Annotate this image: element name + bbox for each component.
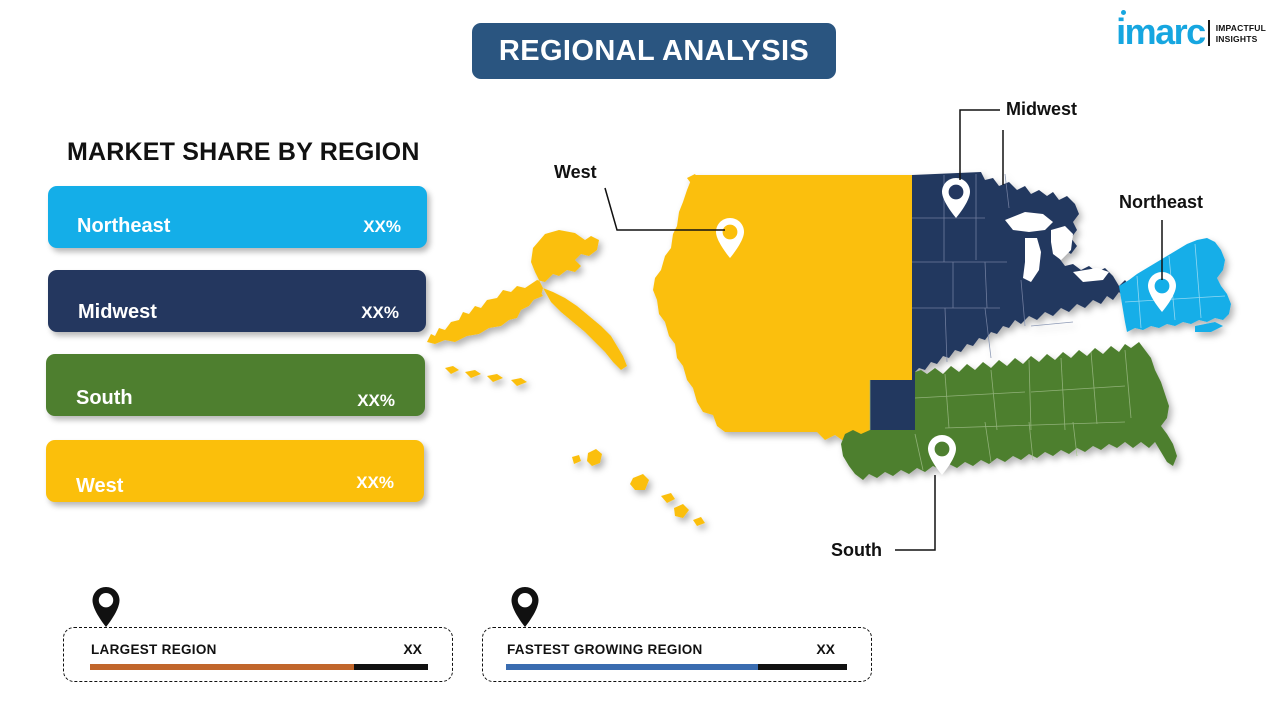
logo-tagline: IMPACTFUL INSIGHTS [1216, 23, 1266, 45]
page-title: REGIONAL ANALYSIS [499, 35, 809, 68]
share-bar-northeast[interactable]: Northeast XX% [48, 186, 427, 248]
slide-canvas: REGIONAL ANALYSIS imarc IMPACTFUL INSIGH… [0, 0, 1280, 720]
fastest-region-value: XX [816, 641, 835, 657]
fastest-region-box: FASTEST GROWING REGION XX [482, 627, 872, 682]
share-bar-label: West [76, 475, 123, 498]
callout-label-west: West [554, 162, 597, 183]
map-region-hawaii-6 [693, 517, 705, 526]
share-bar-value: XX% [361, 303, 399, 323]
fastest-region-progress-fill [506, 664, 758, 670]
share-bar-value: XX% [357, 391, 395, 411]
share-bar-value: XX% [363, 217, 401, 237]
share-bar-south[interactable]: South XX% [46, 354, 425, 416]
map-region-aleutians [445, 366, 527, 386]
fastest-region-progress-track [506, 664, 847, 670]
callout-label-northeast: Northeast [1119, 192, 1203, 213]
logo-tagline-line2: INSIGHTS [1216, 34, 1258, 44]
map-lake-huron [1051, 226, 1073, 260]
largest-region-label: LARGEST REGION [91, 642, 217, 657]
map-region-alaska-panhandle [543, 288, 627, 370]
market-share-heading: MARKET SHARE BY REGION [67, 138, 420, 167]
share-bar-label: Midwest [78, 301, 157, 324]
largest-region-value: XX [403, 641, 422, 657]
largest-region-box: LARGEST REGION XX [63, 627, 453, 682]
map-region-hawaii-4 [661, 493, 675, 503]
map-region-hawaii-5 [674, 504, 689, 518]
share-bar-value: XX% [356, 473, 394, 493]
fastest-region-label: FASTEST GROWING REGION [507, 642, 703, 657]
share-bar-midwest[interactable]: Midwest XX% [48, 270, 426, 332]
imarc-logo: imarc IMPACTFUL INSIGHTS [1116, 16, 1266, 49]
largest-region-progress-fill [90, 664, 354, 670]
map-region-northeast-long-island [1195, 322, 1223, 332]
callout-label-midwest: Midwest [1006, 99, 1077, 120]
share-bar-label: Northeast [77, 215, 170, 238]
map-pin-south [928, 435, 956, 475]
callout-label-south: South [831, 540, 882, 561]
largest-region-progress-track [90, 664, 428, 670]
logo-tagline-line1: IMPACTFUL [1216, 23, 1266, 33]
page-title-banner: REGIONAL ANALYSIS [472, 23, 836, 79]
logo-wordmark: imarc [1116, 11, 1205, 52]
logo-wordmark-wrap: imarc [1116, 16, 1205, 49]
map-region-hawaii [587, 449, 602, 466]
map-region-hawaii-2 [572, 455, 581, 464]
map-region-hawaii-3 [630, 474, 649, 490]
map-region-alaska [427, 230, 599, 344]
share-bar-label: South [76, 387, 133, 410]
logo-divider [1208, 20, 1210, 46]
share-bar-west[interactable]: West XX% [46, 440, 424, 502]
